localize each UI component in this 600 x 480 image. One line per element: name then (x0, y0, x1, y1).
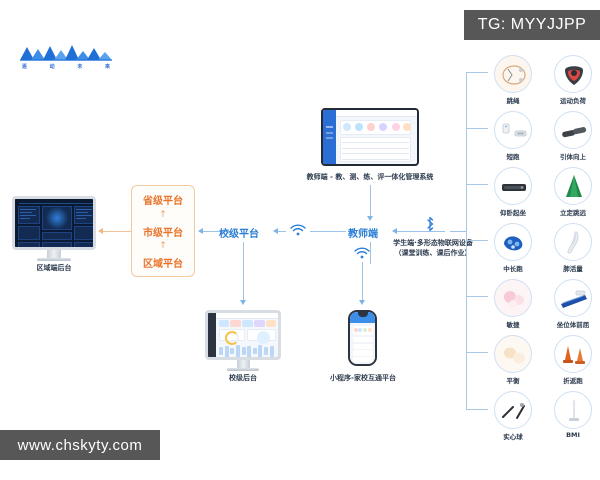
teacher-dashboard (323, 110, 417, 164)
device-label: 中长跑 (487, 263, 539, 273)
device-item-exercise-load[interactable]: 运动负荷 (547, 55, 599, 105)
medicine-ball-icon (494, 391, 532, 429)
wifi-icon-2 (354, 247, 370, 259)
platform-arrow-up-2: ↑ (159, 242, 167, 251)
logo-char-4: 来 (105, 63, 110, 70)
device-item-sprint[interactable]: 短跑 (487, 111, 539, 161)
regional-dashboard (15, 199, 93, 247)
connector-teachersys-to-teacher (370, 185, 371, 219)
device-label: 平衡 (487, 375, 539, 385)
mini-program-caption: 小程序-家校互通平台 (320, 373, 406, 383)
logo-char-1: 逐 (22, 63, 27, 70)
sit-and-reach-icon (554, 279, 592, 317)
regional-backend-device (12, 196, 96, 261)
device-item-medicine-ball[interactable]: 实心球 (487, 391, 539, 441)
connector-student-to-teacher (397, 231, 445, 232)
diagram-canvas: 逐 动 未 来 (0, 0, 600, 480)
platform-level-regional: 区域平台 (143, 255, 183, 270)
device-item-balance[interactable]: 平衡 (487, 335, 539, 385)
jump-rope-icon (494, 55, 532, 93)
long-jump-mat-icon (554, 167, 592, 205)
connector-teacher-down (370, 242, 371, 264)
mini-program-device (348, 310, 377, 366)
teacher-system-screen (321, 108, 419, 166)
device-label: 坐位体前屈 (547, 319, 599, 329)
node-school-platform: 校级平台 (219, 225, 259, 240)
brand-logo: 逐 动 未 来 (18, 43, 114, 75)
device-item-sit-and-reach[interactable]: 坐位体前屈 (547, 279, 599, 329)
device-label: 敏捷 (487, 319, 539, 329)
site-watermark: www.chskyty.com (0, 430, 160, 460)
top-right-tag: TG: MYYJJPP (464, 10, 600, 40)
wifi-icon-1 (290, 224, 306, 236)
sit-up-sensor-icon (494, 167, 532, 205)
device-item-standing-long-jump[interactable]: 立定跳远 (547, 167, 599, 217)
arrow-school-to-platform (198, 228, 203, 234)
device-label: 立定跳远 (547, 207, 599, 217)
distance-run-icon (494, 223, 532, 261)
logo-char-2: 动 (50, 63, 55, 70)
device-item-vital-capacity[interactable]: 肺活量 (547, 223, 599, 273)
connector-wifi-to-teacher (310, 231, 346, 232)
pull-up-sensor-icon (554, 111, 592, 149)
device-label: 实心球 (487, 431, 539, 441)
device-item-bmi[interactable]: BMI (547, 391, 599, 439)
device-item-jump-rope[interactable]: 跳绳 (487, 55, 539, 105)
teacher-system-caption: 教师端 - 教、测、练、评一体化管理系统 (300, 172, 440, 182)
device-label: 短跑 (487, 151, 539, 161)
spirometer-icon (554, 223, 592, 261)
school-backend-device (205, 310, 281, 371)
school-backend-screen (205, 310, 281, 360)
device-label: 运动负荷 (547, 95, 599, 105)
regional-backend-screen (12, 196, 96, 250)
device-label: 折返跑 (547, 375, 599, 385)
sprint-sensor-icon (494, 111, 532, 149)
device-label: BMI (547, 431, 599, 439)
device-label: 仰卧起坐 (487, 207, 539, 217)
agility-disc-icon (494, 279, 532, 317)
iot-device-grid: 跳绳 运动负荷 短跑 (487, 55, 600, 425)
device-label: 引体向上 (547, 151, 599, 161)
connector-wifi2-to-phone (362, 262, 363, 302)
logo-wordmark: 逐 动 未 来 (22, 63, 110, 70)
connector-platform-to-regional (103, 231, 131, 232)
regional-backend-caption: 区域端后台 (12, 263, 96, 273)
arrow-teachersys-down (367, 216, 373, 221)
platform-stack: 省级平台 ↑ 市级平台 ↑ 区域平台 (131, 185, 195, 277)
logo-char-3: 未 (77, 63, 82, 70)
arrow-student-to-teacher (392, 228, 397, 234)
device-label: 跳绳 (487, 95, 539, 105)
platform-arrow-up-1: ↑ (159, 211, 167, 220)
device-item-shuttle-run[interactable]: 折返跑 (547, 335, 599, 385)
bluetooth-icon (424, 216, 436, 232)
arrow-school-left (273, 228, 278, 234)
device-item-pull-ups[interactable]: 引体向上 (547, 111, 599, 161)
teacher-system-device (321, 108, 419, 166)
connector-school-to-wifi (278, 231, 286, 232)
balance-pad-icon (494, 335, 532, 373)
shuttle-cone-icon (554, 335, 592, 373)
heart-rate-band-icon (554, 55, 592, 93)
arrow-phone-down (359, 300, 365, 305)
logo-mark-icon (18, 43, 114, 63)
device-bracket (466, 72, 488, 410)
platform-level-provincial: 省级平台 (143, 192, 183, 207)
connector-school-to-backend (243, 242, 244, 302)
device-item-distance-running[interactable]: 中长跑 (487, 223, 539, 273)
device-item-agility[interactable]: 敏捷 (487, 279, 539, 329)
device-item-sit-ups[interactable]: 仰卧起坐 (487, 167, 539, 217)
platform-level-municipal: 市级平台 (143, 224, 183, 239)
mini-program-screen (348, 310, 377, 366)
arrow-school-down (240, 300, 246, 305)
school-dashboard (208, 313, 278, 357)
device-label: 肺活量 (547, 263, 599, 273)
bmi-scale-icon (554, 391, 592, 429)
connector-bt-to-bracket (450, 231, 466, 232)
school-backend-caption: 校级后台 (205, 373, 281, 383)
arrow-platform-to-regional (98, 228, 103, 234)
